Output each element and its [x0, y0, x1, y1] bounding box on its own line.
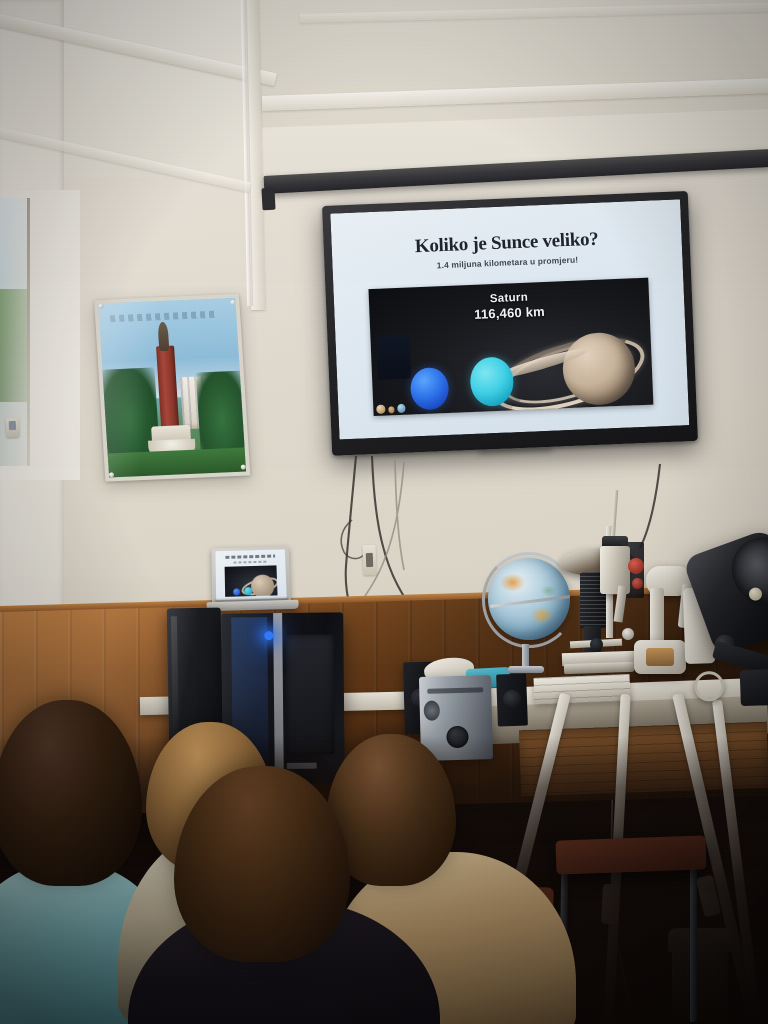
- laptop-slide-title-line: [225, 555, 275, 559]
- laptop-neptune: [233, 588, 240, 596]
- reflector-telescope[interactable]: [687, 526, 768, 720]
- wall-socket[interactable]: [362, 545, 376, 575]
- mount-lock-knob[interactable]: [622, 628, 634, 640]
- stereo-disc-slot[interactable]: [427, 687, 483, 693]
- classroom-scene: Koliko je Sunce veliko? 1.4 miljuna kilo…: [0, 0, 768, 1024]
- laptop-slide-subtitle-line: [233, 560, 268, 563]
- laptop-saturn-body: [251, 575, 275, 598]
- laptop-uranus: [244, 587, 252, 596]
- mount-red-knob[interactable]: [628, 558, 644, 574]
- mount-red-knob-secondary[interactable]: [632, 578, 643, 589]
- telescope-accessory-ring: [694, 671, 725, 702]
- power-led-indicator: [264, 631, 273, 640]
- chair-seat: [555, 835, 706, 874]
- stereo-grille: [424, 700, 441, 720]
- laptop-slide-photo: [225, 565, 278, 597]
- telescope-base-block: [740, 669, 768, 707]
- laptop-lid: [211, 546, 291, 603]
- globe-base: [508, 666, 544, 673]
- loudspeaker-right: [496, 673, 528, 726]
- chair-leg: [690, 862, 697, 1022]
- mount-fork-arm: [650, 588, 664, 646]
- laptop-screen: [215, 549, 286, 600]
- tripod-hub: [634, 640, 686, 674]
